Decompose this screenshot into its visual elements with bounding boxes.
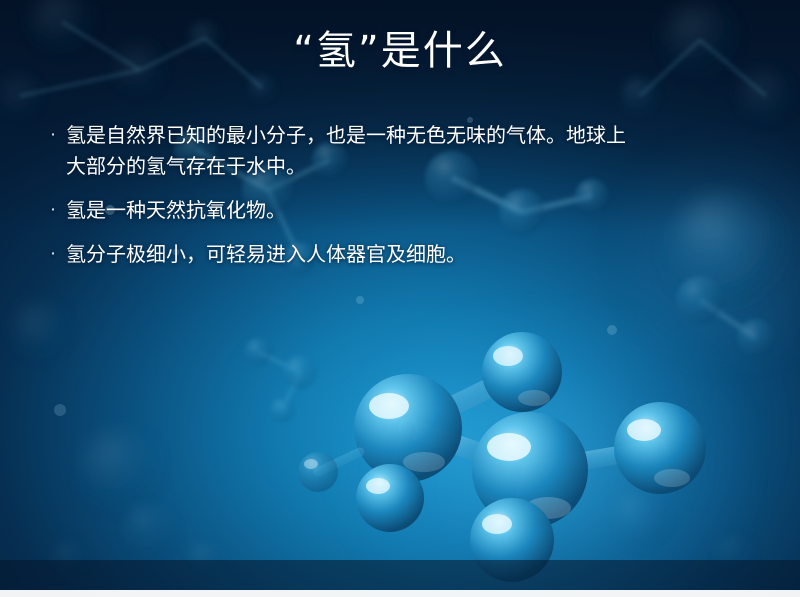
presentation-slide: “氢”是什么 · 氢是自然界已知的最小分子，也是一种无色无味的气体。地球上 大部…	[0, 0, 800, 597]
bullet-list: · 氢是自然界已知的最小分子，也是一种无色无味的气体。地球上 大部分的氢气存在于…	[40, 120, 770, 283]
molecular-structure-background	[0, 0, 800, 597]
list-item: · 氢分子极细小，可轻易进入人体器官及细胞。	[40, 239, 770, 270]
slide-title: “氢”是什么	[0, 18, 800, 76]
bullet-marker-icon: ·	[40, 120, 66, 150]
bullet-text: 氢分子极细小，可轻易进入人体器官及细胞。	[66, 239, 770, 270]
list-item: · 氢是一种天然抗氧化物。	[40, 195, 770, 226]
list-item: · 氢是自然界已知的最小分子，也是一种无色无味的气体。地球上 大部分的氢气存在于…	[40, 120, 770, 182]
bullet-marker-icon: ·	[40, 239, 66, 269]
bullet-text: 氢是自然界已知的最小分子，也是一种无色无味的气体。地球上 大部分的氢气存在于水中…	[66, 120, 770, 182]
bullet-text: 氢是一种天然抗氧化物。	[66, 195, 770, 226]
bullet-marker-icon: ·	[40, 195, 66, 225]
